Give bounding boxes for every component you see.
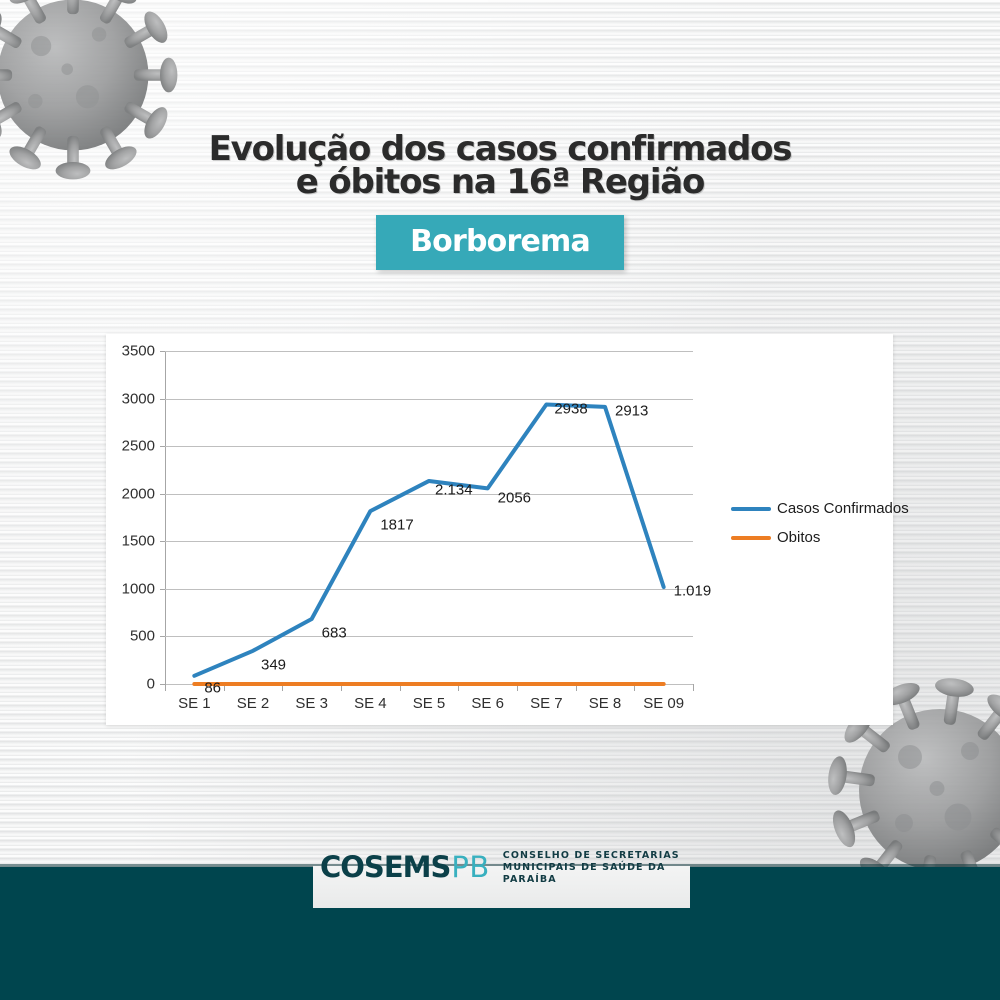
y-axis-tick-label: 2500 bbox=[122, 438, 155, 455]
legend-item[interactable]: Obitos bbox=[731, 523, 909, 552]
data-point-label: 2938 bbox=[554, 401, 587, 418]
x-axis-tick-label: SE 3 bbox=[295, 695, 328, 712]
logo-tagline: CONSELHO DE SECRETARIAS MUNICIPAIS DE SA… bbox=[503, 849, 690, 886]
x-axis-tick-label: SE 8 bbox=[589, 695, 622, 712]
legend-swatch-icon bbox=[731, 507, 771, 511]
y-axis-tick-label: 2000 bbox=[122, 485, 155, 502]
cosems-pb-logo: COSEMS PB CONSELHO DE SECRETARIAS MUNICI… bbox=[320, 845, 690, 889]
legend-item[interactable]: Casos Confirmados bbox=[731, 494, 909, 523]
data-point-label: 1817 bbox=[380, 517, 413, 534]
x-tick-mark bbox=[165, 684, 166, 691]
logo-primary-text: COSEMS bbox=[320, 850, 450, 884]
y-axis-tick-label: 3500 bbox=[122, 343, 155, 360]
data-point-label: 349 bbox=[261, 656, 286, 673]
chart-legend: Casos ConfirmadosObitos bbox=[731, 494, 909, 552]
x-axis-tick-label: SE 5 bbox=[413, 695, 446, 712]
y-axis-tick-label: 0 bbox=[147, 676, 155, 693]
data-point-label: 2913 bbox=[615, 402, 648, 419]
y-axis-tick-label: 1500 bbox=[122, 533, 155, 550]
chart-plot-area: 0500100015002000250030003500 SE 1SE 2SE … bbox=[165, 351, 693, 684]
x-axis-tick-label: SE 2 bbox=[237, 695, 270, 712]
x-axis-tick-label: SE 09 bbox=[643, 695, 684, 712]
x-tick-mark bbox=[693, 684, 694, 691]
x-axis-tick-label: SE 4 bbox=[354, 695, 387, 712]
legend-label: Casos Confirmados bbox=[777, 500, 909, 517]
series-layer bbox=[165, 351, 693, 684]
data-point-label: 2056 bbox=[498, 490, 531, 507]
chart-card: 0500100015002000250030003500 SE 1SE 2SE … bbox=[106, 334, 893, 725]
y-axis-tick-label: 1000 bbox=[122, 580, 155, 597]
data-point-label: 2.134 bbox=[435, 481, 473, 498]
x-axis-tick-label: SE 7 bbox=[530, 695, 563, 712]
y-axis-tick-label: 3000 bbox=[122, 390, 155, 407]
logo-secondary-text: PB bbox=[451, 850, 489, 884]
x-axis-tick-label: SE 6 bbox=[471, 695, 504, 712]
series-line bbox=[194, 404, 663, 675]
data-point-label: 1.019 bbox=[674, 583, 712, 600]
region-badge: Borborema bbox=[376, 215, 624, 270]
legend-swatch-icon bbox=[731, 536, 771, 540]
logo-tagline-line-2: MUNICIPAIS DE SAÚDE DA PARAÍBA bbox=[503, 862, 690, 886]
data-point-label: 86 bbox=[204, 679, 221, 696]
data-point-label: 683 bbox=[322, 625, 347, 642]
logo-tagline-line-1: CONSELHO DE SECRETARIAS bbox=[503, 850, 690, 862]
page-title: Evolução dos casos confirmados e óbitos … bbox=[0, 133, 1000, 270]
x-axis-tick-label: SE 1 bbox=[178, 695, 211, 712]
y-axis-tick-label: 500 bbox=[130, 628, 155, 645]
legend-label: Obitos bbox=[777, 529, 820, 546]
title-line-2: e óbitos na 16ª Região bbox=[0, 166, 1000, 199]
